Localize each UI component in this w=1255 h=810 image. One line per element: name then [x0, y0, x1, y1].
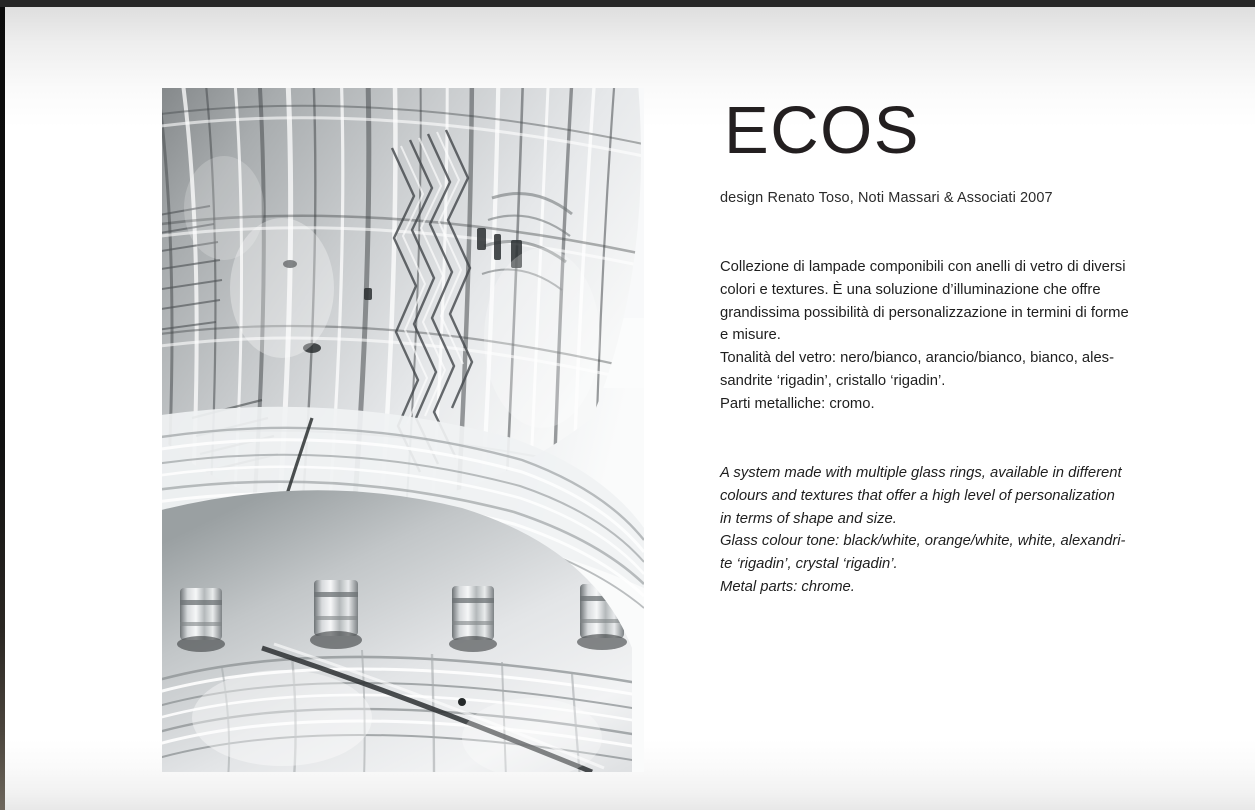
glass-rings-illustration: [162, 88, 644, 772]
page-left-frame-edge: [0, 0, 5, 810]
page-title: ECOS: [724, 97, 920, 164]
description-italian: Collezione di lampade componibili con an…: [720, 256, 1129, 416]
document-page: ECOS design Renato Toso, Noti Massari & …: [0, 0, 1255, 810]
desc-en-line-2: colours and textures that offer a high l…: [720, 485, 1129, 508]
desc-it-metal-parts: Parti metalliche: cromo.: [720, 393, 1129, 416]
desc-it-line-2: colori e textures. È una soluzione d’ill…: [720, 279, 1129, 302]
design-credit: design Renato Toso, Noti Massari & Assoc…: [720, 190, 1053, 206]
desc-it-line-3: grandissima possibilità di personalizzaz…: [720, 302, 1129, 325]
desc-it-line-1: Collezione di lampade componibili con an…: [720, 256, 1129, 279]
desc-en-glass-tones-line-1: Glass colour tone: black/white, orange/w…: [720, 530, 1129, 553]
desc-en-glass-tones-line-2: te ‘rigadin’, crystal ‘rigadin’.: [720, 553, 1129, 576]
desc-it-line-4: e misure.: [720, 324, 1129, 347]
page-top-frame-bar: [0, 0, 1255, 7]
desc-en-line-3: in terms of shape and size.: [720, 508, 1129, 531]
desc-it-glass-tones-line-2: sandrite ‘rigadin’, cristallo ‘rigadin’.: [720, 370, 1129, 393]
product-text-column: ECOS design Renato Toso, Noti Massari & …: [720, 0, 1130, 810]
product-photo: [162, 88, 644, 772]
description-english: A system made with multiple glass rings,…: [720, 462, 1129, 599]
desc-en-line-1: A system made with multiple glass rings,…: [720, 462, 1129, 485]
desc-en-metal-parts: Metal parts: chrome.: [720, 576, 1129, 599]
desc-it-glass-tones-line-1: Tonalità del vetro: nero/bianco, arancio…: [720, 347, 1129, 370]
